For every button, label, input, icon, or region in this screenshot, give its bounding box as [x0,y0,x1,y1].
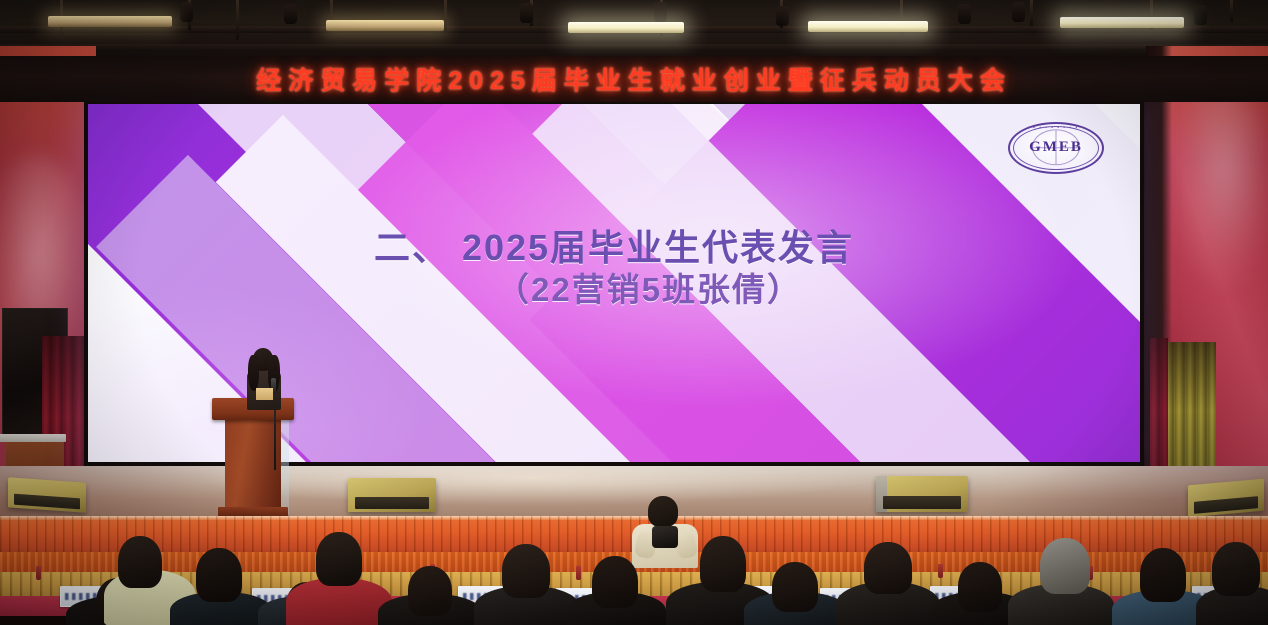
slide-text-block: 二、 2025届毕业生代表发言 （22营销5班张倩） [88,226,1140,310]
ceiling-light-bar [326,20,444,31]
ceiling-light-bar [808,21,928,32]
audience-member [196,548,242,602]
stage-wall-left [0,46,96,516]
student-speaker [238,348,290,410]
slide-subtitle: （22营销5班张倩） [88,270,1140,310]
stage-monitor-right [876,476,968,512]
audience-member [1212,542,1260,596]
speaker-podium [216,398,290,518]
side-table [0,434,66,442]
ceiling-light-bar [1060,17,1184,28]
auditorium-photo: • • • • • • • • • • GMEB 二、 2025届毕业生代表发言… [0,0,1268,625]
stage-monitor-far-right [1188,479,1264,518]
led-banner: 经济贸易学院2025届毕业生就业创业暨征兵动员大会 [0,56,1268,102]
audience-member [118,536,162,588]
camera-icon [652,526,678,548]
audience-member [1140,548,1186,602]
audience-member [316,532,362,586]
audience-member [592,556,638,608]
stage-wall-right [1146,46,1268,516]
ceiling-light-bar [48,16,172,27]
led-banner-text: 经济贸易学院2025届毕业生就业创业暨征兵动员大会 [0,61,1268,97]
logo-acronym: GMEB [1008,139,1104,156]
audience-member [1040,538,1090,594]
stage-monitor-far-left [8,477,86,512]
ceiling-rig [0,0,1268,62]
audience-member [502,544,550,598]
audience-member [958,562,1002,612]
logo-arc-text: • • • • • • • • • • [1008,125,1104,130]
audience-member [772,562,818,612]
school-logo: • • • • • • • • • • GMEB [1008,122,1104,174]
audience-member [408,566,452,616]
slide-title: 二、 2025届毕业生代表发言 [88,226,1140,270]
stage-monitor-left [348,478,436,512]
ceiling-light-bar [568,22,684,33]
audience-member [700,536,746,592]
seated-person-with-camera [624,496,710,568]
audience-member [864,542,912,594]
